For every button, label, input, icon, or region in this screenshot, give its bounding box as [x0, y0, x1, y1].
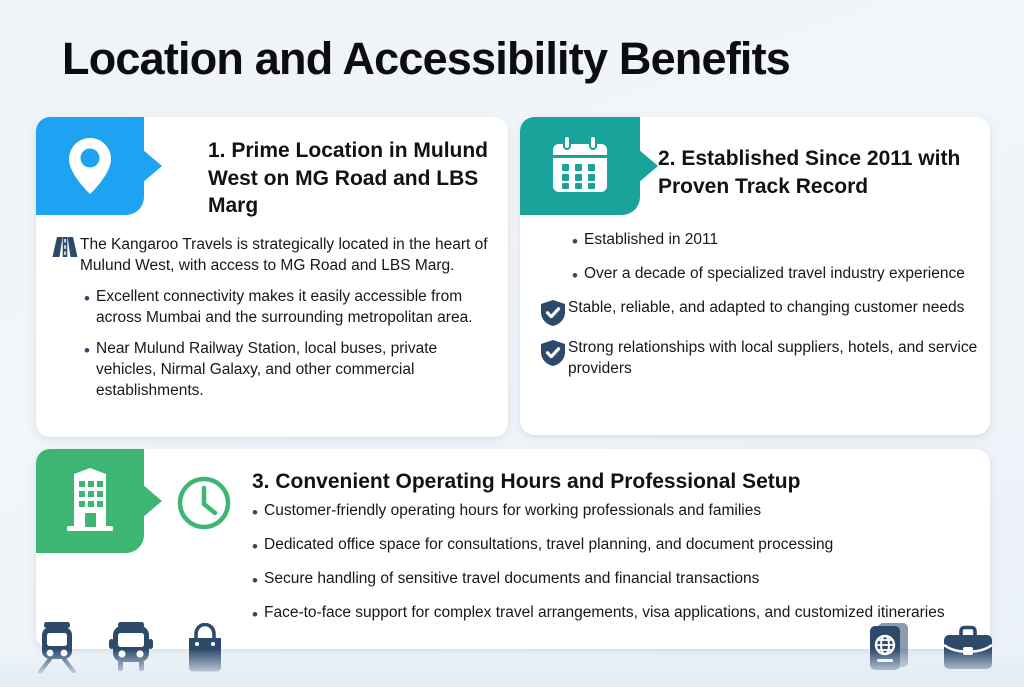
- card-2-bullet-0: • Established in 2011: [538, 230, 978, 253]
- card-2-bullet-list: • Established in 2011 • Over a decade of…: [538, 230, 978, 379]
- card-3-bullet-1: • Dedicated office space for consultatio…: [246, 535, 976, 558]
- page-title: Location and Accessibility Benefits: [62, 33, 790, 85]
- card-1-bullet-1: • Excellent connectivity makes it easily…: [50, 287, 498, 328]
- card-2-bullet-1: • Over a decade of specialized travel in…: [538, 264, 978, 287]
- card-3-bullet-2: • Secure handling of sensitive travel do…: [246, 569, 976, 592]
- briefcase-icon: [942, 625, 994, 673]
- passport-icon: [866, 621, 912, 673]
- office-building-icon: [61, 468, 119, 534]
- card-3-bullet-list: • Customer-friendly operating hours for …: [246, 501, 976, 626]
- clock-icon: [176, 475, 232, 531]
- card-2-flag-point: [638, 149, 658, 183]
- card-1-bullet-list: The Kangaroo Travels is strategically lo…: [50, 235, 498, 401]
- card-1-bullet-0-text: The Kangaroo Travels is strategically lo…: [80, 235, 498, 276]
- card-2-accent-block: [520, 117, 640, 215]
- bullet-dot-icon: •: [246, 535, 264, 558]
- location-pin-icon: [65, 135, 115, 197]
- card-3-bullet-0-text: Customer-friendly operating hours for wo…: [264, 501, 761, 522]
- card-3-accent-block: [36, 449, 144, 553]
- card-2-bullet-1-text: Over a decade of specialized travel indu…: [584, 264, 965, 285]
- card-3-icon-flag: [36, 449, 144, 553]
- bottom-icon-strip-right: [866, 621, 994, 673]
- shopping-bag-icon: [184, 623, 226, 673]
- card-1-heading: 1. Prime Location in Mulund West on MG R…: [208, 137, 508, 220]
- bullet-dot-icon: •: [566, 230, 584, 253]
- shield-check-icon: [538, 338, 568, 367]
- card-3-flag-point: [142, 484, 162, 518]
- bullet-dot-icon: •: [246, 501, 264, 524]
- shield-check-icon: [538, 298, 568, 327]
- bullet-dot-icon: •: [566, 264, 584, 287]
- card-1-icon-flag: [36, 117, 144, 215]
- card-1-accent-block: [36, 117, 144, 215]
- train-icon: [36, 621, 78, 673]
- card-3-bullet-2-text: Secure handling of sensitive travel docu…: [264, 569, 759, 590]
- card-1-bullet-1-text: Excellent connectivity makes it easily a…: [96, 287, 498, 328]
- card-1-bullet-0: The Kangaroo Travels is strategically lo…: [50, 235, 498, 276]
- card-3-heading: 3. Convenient Operating Hours and Profes…: [252, 468, 952, 496]
- card-1-bullet-2: • Near Mulund Railway Station, local bus…: [50, 339, 498, 401]
- card-2-bullet-3-text: Strong relationships with local supplier…: [568, 338, 978, 379]
- bottom-icon-strip-left: [36, 621, 226, 673]
- card-3-bullet-0: • Customer-friendly operating hours for …: [246, 501, 976, 524]
- card-1-bullet-2-text: Near Mulund Railway Station, local buses…: [96, 339, 498, 401]
- bus-icon: [108, 621, 154, 673]
- road-icon: [50, 235, 80, 258]
- calendar-icon: [549, 136, 611, 196]
- card-2-icon-flag: [520, 117, 640, 215]
- card-2-bullet-2: Stable, reliable, and adapted to changin…: [538, 298, 978, 327]
- card-1-flag-point: [142, 149, 162, 183]
- card-2-bullet-2-text: Stable, reliable, and adapted to changin…: [568, 298, 964, 319]
- bullet-dot-icon: •: [78, 339, 96, 362]
- card-2-bullet-3: Strong relationships with local supplier…: [538, 338, 978, 379]
- card-3-bullet-3-text: Face-to-face support for complex travel …: [264, 603, 945, 624]
- benefit-card-3: 3. Convenient Operating Hours and Profes…: [36, 449, 990, 649]
- bullet-dot-icon: •: [246, 569, 264, 592]
- bullet-dot-icon: •: [246, 603, 264, 626]
- benefit-card-2: 2. Established Since 2011 with Proven Tr…: [520, 117, 990, 435]
- card-3-bullet-1-text: Dedicated office space for consultations…: [264, 535, 833, 556]
- benefit-card-1: 1. Prime Location in Mulund West on MG R…: [36, 117, 508, 437]
- card-2-bullet-0-text: Established in 2011: [584, 230, 718, 251]
- card-2-heading: 2. Established Since 2011 with Proven Tr…: [658, 145, 988, 200]
- bullet-dot-icon: •: [78, 287, 96, 310]
